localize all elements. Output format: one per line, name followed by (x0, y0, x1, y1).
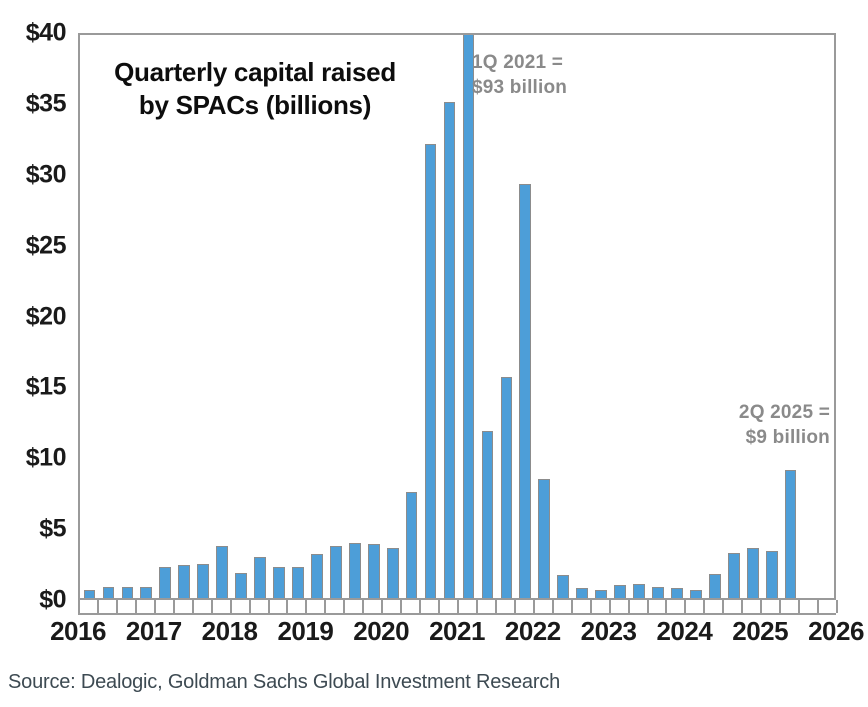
bar (595, 590, 607, 599)
x-axis-tick (514, 600, 516, 613)
x-axis-labels: 2016201720182019202020212022202320242025… (0, 616, 868, 656)
spac-capital-chart-figure: $0$5$10$15$20$25$30$35$40 Quarterly capi… (0, 0, 868, 707)
x-axis-tick-label: 2023 (581, 616, 637, 647)
bar (178, 565, 190, 598)
x-axis-tick (97, 600, 99, 613)
bar (652, 587, 664, 598)
x-axis-tick (400, 600, 402, 613)
x-axis-tick-label: 2019 (277, 616, 333, 647)
y-axis-tick-label: $40 (26, 19, 66, 48)
x-axis-ticks (78, 600, 836, 613)
bar (576, 588, 588, 598)
bar (425, 144, 437, 598)
x-axis-tick (476, 600, 478, 613)
annotation-latest-2q2025: 2Q 2025 = $9 billion (739, 400, 830, 451)
bar (709, 574, 721, 598)
x-axis-tick-label: 2026 (808, 616, 864, 647)
x-axis-tick-label: 2018 (202, 616, 258, 647)
x-axis-tick (571, 600, 573, 613)
x-axis-tick (798, 600, 800, 613)
x-axis-tick-label: 2017 (126, 616, 182, 647)
y-axis-tick-label: $35 (26, 89, 66, 118)
x-axis-tick (78, 600, 80, 613)
bar (387, 548, 399, 598)
x-axis-tick (362, 600, 364, 613)
bar (330, 546, 342, 598)
bar (671, 588, 683, 598)
x-axis-tick (647, 600, 649, 613)
x-axis-tick (817, 600, 819, 613)
bar (463, 33, 475, 598)
bar (84, 590, 96, 599)
x-axis-tick-label: 2022 (505, 616, 561, 647)
y-axis-tick-label: $25 (26, 231, 66, 260)
x-axis-tick (230, 600, 232, 613)
bar (785, 470, 797, 598)
annotation-peak-1q2021: 1Q 2021 = $93 billion (472, 50, 567, 101)
bar (747, 548, 759, 598)
bar (235, 573, 247, 599)
x-axis-tick-label: 2016 (50, 616, 106, 647)
bar (159, 567, 171, 598)
bar (122, 587, 134, 598)
bar (349, 543, 361, 598)
bar (614, 585, 626, 598)
x-axis-tick (703, 600, 705, 613)
bar (766, 551, 778, 598)
source-note: Source: Dealogic, Goldman Sachs Global I… (8, 671, 560, 694)
x-axis-tick (381, 600, 383, 613)
bar (690, 590, 702, 599)
x-axis-tick-label: 2021 (429, 616, 485, 647)
bar (273, 567, 285, 598)
x-axis-tick-label: 2025 (732, 616, 788, 647)
x-axis-tick (665, 600, 667, 613)
bar (197, 564, 209, 598)
x-axis-tick (268, 600, 270, 613)
y-axis-tick-label: $15 (26, 373, 66, 402)
bar (728, 553, 740, 598)
x-axis-tick-label: 2020 (353, 616, 409, 647)
x-axis-tick (722, 600, 724, 613)
x-axis-tick-label: 2024 (656, 616, 712, 647)
bar (633, 584, 645, 598)
y-axis-tick-label: $30 (26, 160, 66, 189)
x-axis-tick (457, 600, 459, 613)
x-axis-tick (552, 600, 554, 613)
y-axis-tick-label: $20 (26, 302, 66, 331)
bar (501, 377, 513, 598)
bar (254, 557, 266, 598)
bar (538, 479, 550, 598)
x-axis-tick (533, 600, 535, 613)
x-axis-line (78, 613, 836, 615)
x-axis-tick (760, 600, 762, 613)
x-axis-tick (305, 600, 307, 613)
bar (368, 544, 380, 598)
x-axis-tick (249, 600, 251, 613)
x-axis-tick (495, 600, 497, 613)
bar (292, 567, 304, 598)
bar (557, 575, 569, 598)
x-axis-tick (590, 600, 592, 613)
x-axis-tick (684, 600, 686, 613)
x-axis-tick (211, 600, 213, 613)
x-axis-tick (836, 600, 838, 613)
x-axis-tick (438, 600, 440, 613)
x-axis-tick (343, 600, 345, 613)
x-axis-tick (154, 600, 156, 613)
x-axis-tick (324, 600, 326, 613)
x-axis-tick (741, 600, 743, 613)
bar (519, 184, 531, 598)
y-axis: $0$5$10$15$20$25$30$35$40 (0, 0, 72, 612)
bar (311, 554, 323, 598)
x-axis-tick (116, 600, 118, 613)
x-axis-tick (628, 600, 630, 613)
x-axis-tick (173, 600, 175, 613)
x-axis-tick (135, 600, 137, 613)
bar (406, 492, 418, 598)
y-axis-tick-label: $5 (39, 515, 66, 544)
x-axis-tick (419, 600, 421, 613)
x-axis-tick (779, 600, 781, 613)
bar (482, 431, 494, 598)
x-axis-tick (192, 600, 194, 613)
y-axis-tick-label: $10 (26, 444, 66, 473)
x-axis-tick (609, 600, 611, 613)
x-axis-tick (286, 600, 288, 613)
bar (140, 587, 152, 598)
bar (444, 102, 456, 598)
bar (103, 587, 115, 598)
y-axis-tick-label: $0 (39, 586, 66, 615)
bar (216, 546, 228, 598)
chart-title: Quarterly capital raised by SPACs (billi… (110, 56, 400, 122)
